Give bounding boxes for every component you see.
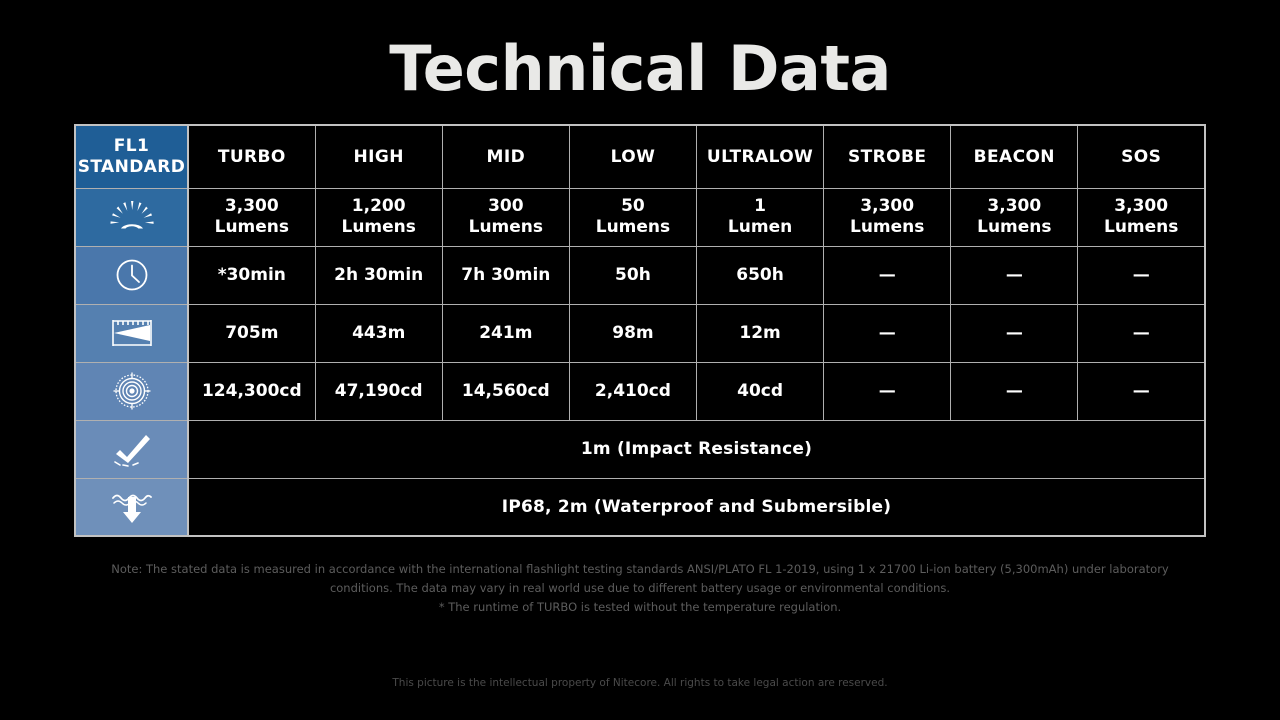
cell-peak-beam-ultralow: 40cd [697,362,824,420]
cell-lumens-high: 1,200 Lumens [315,188,442,246]
cell-lumens-ultralow: 1 Lumen [697,188,824,246]
cell-waterproof-value: IP68, 2m (Waterproof and Submersible) [188,478,1205,536]
impact-resistance-icon [76,421,187,478]
unit: Lumens [469,217,543,237]
row-icon-cell-beam-distance [75,304,188,362]
cell-beam-distance-ultralow: 12m [697,304,824,362]
cell-runtime-beacon: — [951,246,1078,304]
cell-lumens-turbo: 3,300 Lumens [188,188,315,246]
cell-lumens-beacon: 3,300 Lumens [951,188,1078,246]
cell-beam-distance-low: 98m [569,304,696,362]
footnote-line-3: * The runtime of TURBO is tested without… [0,598,1280,617]
cell-beam-distance-mid: 241m [442,304,569,362]
cell-runtime-high: 2h 30min [315,246,442,304]
cell-runtime-ultralow: 650h [697,246,824,304]
technical-data-table: FL1 STANDARD TURBO HIGH MID LOW ULTRALOW… [74,124,1206,537]
peak-beam-intensity-icon [76,363,187,420]
value: 3,300 [987,196,1041,216]
footnote-line-1: Note: The stated data is measured in acc… [0,560,1280,579]
column-header-beacon: BEACON [951,125,1078,188]
table-row-waterproof: IP68, 2m (Waterproof and Submersible) [75,478,1205,536]
column-header-low: LOW [569,125,696,188]
cell-runtime-low: 50h [569,246,696,304]
footnotes: Note: The stated data is measured in acc… [0,560,1280,617]
column-header-sos: SOS [1078,125,1205,188]
cell-peak-beam-strobe: — [824,362,951,420]
value: 3,300 [1114,196,1168,216]
row-icon-cell-waterproof [75,478,188,536]
cell-beam-distance-beacon: — [951,304,1078,362]
cell-runtime-sos: — [1078,246,1205,304]
page-title: Technical Data [0,38,1280,100]
unit: Lumens [596,217,670,237]
column-header-ultralow: ULTRALOW [697,125,824,188]
cell-peak-beam-turbo: 124,300cd [188,362,315,420]
table-header-row: FL1 STANDARD TURBO HIGH MID LOW ULTRALOW… [75,125,1205,188]
cell-peak-beam-high: 47,190cd [315,362,442,420]
technical-data-page: Technical Data FL1 STANDARD TURBO HIGH M… [0,0,1280,720]
value: 300 [488,196,524,216]
row-icon-cell-impact-resistance [75,420,188,478]
row-icon-cell-runtime [75,246,188,304]
cell-peak-beam-sos: — [1078,362,1205,420]
waterproof-submersible-icon [76,479,187,536]
cell-lumens-low: 50 Lumens [569,188,696,246]
row-icon-cell-peak-beam-intensity [75,362,188,420]
cell-runtime-mid: 7h 30min [442,246,569,304]
cell-peak-beam-low: 2,410cd [569,362,696,420]
column-header-mid: MID [442,125,569,188]
value: 1 [754,196,766,216]
cell-runtime-turbo: *30min [188,246,315,304]
column-header-turbo: TURBO [188,125,315,188]
column-header-strobe: STROBE [824,125,951,188]
value: 3,300 [225,196,279,216]
fl1-standard-header: FL1 STANDARD [75,125,188,188]
table-row-peak-beam-intensity: 124,300cd 47,190cd 14,560cd 2,410cd 40cd… [75,362,1205,420]
cell-beam-distance-high: 443m [315,304,442,362]
table-row-lumens: 3,300 Lumens 1,200 Lumens 300 Lumens 50 … [75,188,1205,246]
fl1-label-line1: FL1 [114,136,149,156]
table-row-runtime: *30min 2h 30min 7h 30min 50h 650h — — — [75,246,1205,304]
value: 3,300 [860,196,914,216]
beam-distance-icon [76,305,187,362]
cell-lumens-mid: 300 Lumens [442,188,569,246]
fl1-label-line2: STANDARD [78,157,186,177]
cell-runtime-strobe: — [824,246,951,304]
unit: Lumens [1104,217,1178,237]
cell-lumens-sos: 3,300 Lumens [1078,188,1205,246]
cell-beam-distance-sos: — [1078,304,1205,362]
unit: Lumens [215,217,289,237]
unit: Lumen [728,217,792,237]
table-row-impact-resistance: 1m (Impact Resistance) [75,420,1205,478]
cell-peak-beam-beacon: — [951,362,1078,420]
column-header-high: HIGH [315,125,442,188]
cell-impact-resistance-value: 1m (Impact Resistance) [188,420,1205,478]
sunburst-lumens-icon [76,189,187,246]
unit: Lumens [977,217,1051,237]
cell-beam-distance-strobe: — [824,304,951,362]
cell-peak-beam-mid: 14,560cd [442,362,569,420]
cell-lumens-strobe: 3,300 Lumens [824,188,951,246]
value: 50 [621,196,645,216]
clock-runtime-icon [76,247,187,304]
value: 1,200 [352,196,406,216]
row-icon-cell-lumens [75,188,188,246]
copyright-notice: This picture is the intellectual propert… [0,677,1280,689]
cell-beam-distance-turbo: 705m [188,304,315,362]
footnote-line-2: conditions. The data may vary in real wo… [0,579,1280,598]
unit: Lumens [341,217,415,237]
table-row-beam-distance: 705m 443m 241m 98m 12m — — — [75,304,1205,362]
unit: Lumens [850,217,924,237]
